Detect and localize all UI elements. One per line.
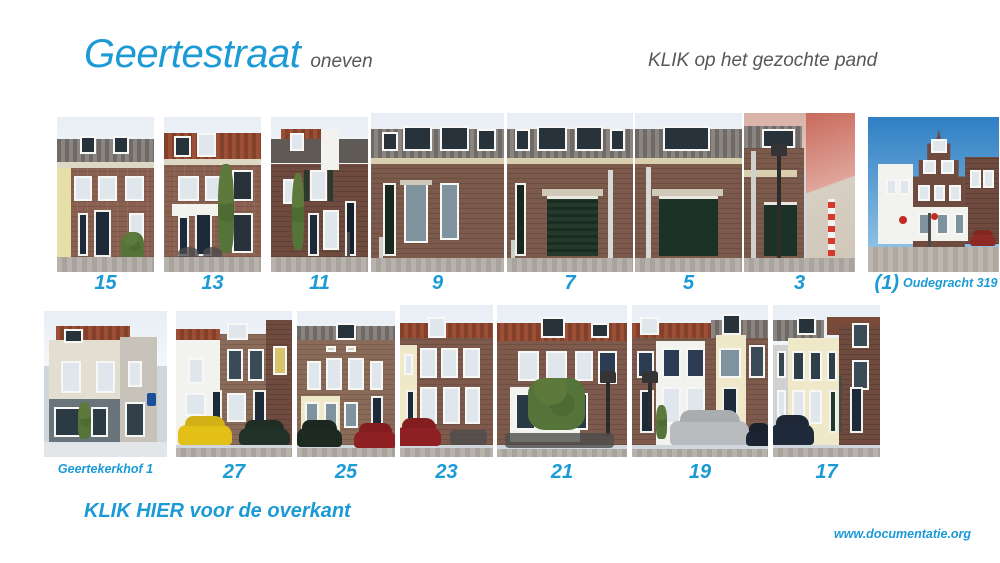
facade-art-23 — [400, 305, 493, 457]
street-lamp-icon-19 — [648, 381, 652, 427]
facade-art-21 — [497, 305, 627, 457]
photo-house-geertekerkhof-1[interactable] — [44, 311, 167, 457]
page-root: Geertestraat oneven KLIK op het gezochte… — [0, 0, 1000, 563]
caption-house-geertekerkhof-1[interactable]: Geertekerkhof 1 — [44, 463, 167, 476]
photo-house-19[interactable] — [632, 305, 768, 457]
photo-house-27[interactable] — [176, 311, 292, 457]
caption-house-17[interactable]: 17 — [773, 462, 880, 482]
dark-car — [239, 428, 290, 446]
wisteria-vine — [528, 378, 585, 430]
red-car-25 — [354, 431, 395, 449]
caption-house-19[interactable]: 19 — [632, 462, 768, 482]
silver-car-19 — [670, 421, 749, 445]
caption-house-25[interactable]: 25 — [297, 462, 395, 482]
parking-sign-icon — [147, 393, 156, 406]
dark-car-25 — [297, 428, 342, 447]
caption-house-21[interactable]: 21 — [497, 462, 627, 482]
photo-row-bottom: Geertekerkhof 1 — [0, 0, 1000, 500]
site-credit-link[interactable]: www.documentatie.org — [834, 527, 971, 541]
facade-art-17 — [773, 305, 880, 457]
facade-art-25 — [297, 311, 395, 457]
caption-house-23[interactable]: 23 — [400, 462, 493, 482]
facade-art-27 — [176, 311, 292, 457]
caption-house-27[interactable]: 27 — [176, 462, 292, 482]
yellow-van — [178, 425, 231, 445]
photo-house-23[interactable] — [400, 305, 493, 457]
photo-house-17[interactable] — [773, 305, 880, 457]
red-car-23 — [400, 427, 441, 447]
link-other-side[interactable]: KLIK HIER voor de overkant — [84, 500, 351, 523]
photo-house-25[interactable] — [297, 311, 395, 457]
dark-car-19 — [746, 430, 768, 447]
street-lamp-icon-21 — [606, 381, 610, 436]
dark-car-17 — [773, 424, 814, 445]
facade-art-19 — [632, 305, 768, 457]
facade-art-gk1 — [44, 311, 167, 457]
photo-house-21[interactable] — [497, 305, 627, 457]
